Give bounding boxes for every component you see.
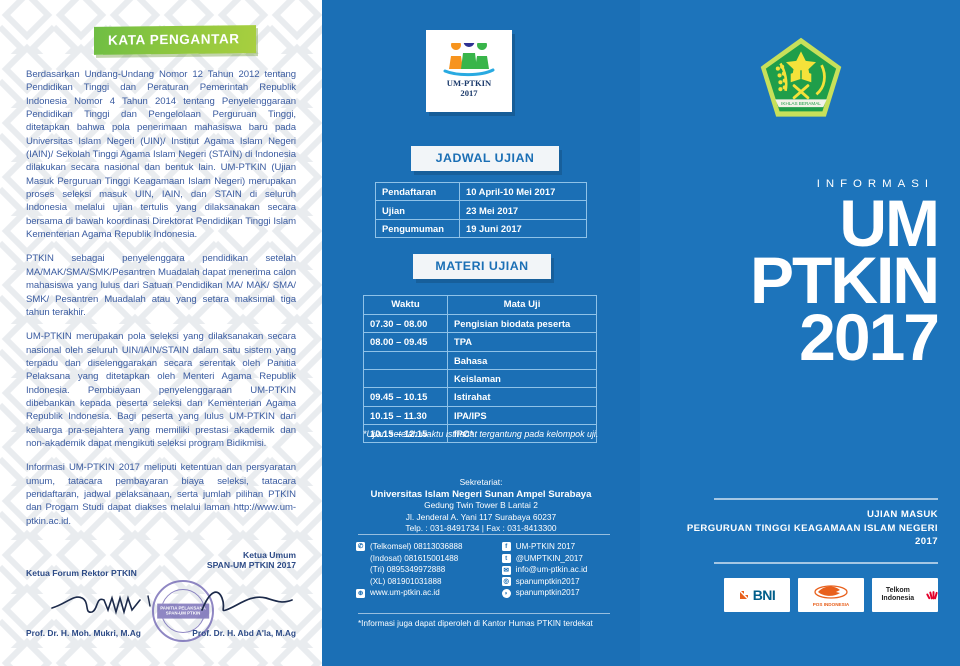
contact-row[interactable]: ✆ (Telkomsel) 08113036888 xyxy=(356,541,490,553)
intro-paragraph-3: UM-PTKIN merupakan pola seleksi yang dil… xyxy=(26,330,296,450)
jadwal-value: 19 Juni 2017 xyxy=(460,219,587,237)
cell-waktu: 09.45 – 10.15 xyxy=(364,388,448,406)
contact-text: www.um-ptkin.ac.id xyxy=(370,587,440,599)
contact-text: (Indosat) 081615001488 xyxy=(356,553,490,565)
table-row: Ujian 23 Mei 2017 xyxy=(376,201,587,219)
contact-text: spanumptkin2017 xyxy=(516,576,580,588)
contact-text: UM-PTKIN 2017 xyxy=(516,541,575,553)
kata-pengantar-header: KATA PENGANTAR xyxy=(94,26,256,54)
table-row: Pengumuman 19 Juni 2017 xyxy=(376,219,587,237)
cell-waktu: 08.00 – 09.45 xyxy=(364,333,448,351)
telkom-indonesia-logo-label: Telkom Indonesia xyxy=(872,587,938,603)
divider-bottom xyxy=(358,613,610,614)
cell-mata-uji: Keislaman xyxy=(448,369,597,387)
pos-bird-icon xyxy=(812,583,850,600)
page-title: UM PTKIN 2017 xyxy=(750,195,938,365)
contacts-column-right: f UM-PTKIN 2017 t @UMPTKIN_2017 ✉ info@u… xyxy=(502,541,618,599)
secretariat-building: Gedung Twin Tower B Lantai 2 xyxy=(336,500,626,512)
cell-waktu: 07.30 – 08.00 xyxy=(364,314,448,332)
cell-waktu xyxy=(364,351,448,369)
signature-right-mark xyxy=(196,582,306,616)
cell-mata-uji: Istirahat xyxy=(448,388,597,406)
table-row: Keislaman xyxy=(364,369,597,387)
divider-top xyxy=(358,534,610,535)
left-panel: KATA PENGANTAR Berdasarkan Undang-Undang… xyxy=(0,0,322,666)
bni-logo-label: BNI xyxy=(739,587,776,603)
contact-row[interactable]: t @UMPTKIN_2017 xyxy=(502,553,618,565)
tagline-line-3: 2017 xyxy=(687,535,938,549)
contacts-block: ✆ (Telkomsel) 08113036888 (Indosat) 0816… xyxy=(356,541,618,599)
signature-left-name: Prof. Dr. H. Moh. Mukri, M.Ag xyxy=(26,628,141,638)
contact-text: (Tri) 0895349972888 xyxy=(356,564,490,576)
signature-block: Ketua Forum Rektor PTKIN Ketua Umum SPAN… xyxy=(26,550,296,642)
pos-indonesia-logo: POS INDONESIA xyxy=(798,578,864,612)
cell-waktu xyxy=(364,369,448,387)
cell-mata-uji: TPA xyxy=(448,333,597,351)
jadwal-label: Pengumuman xyxy=(376,219,460,237)
svg-text:IKHLAS BERAMAL: IKHLAS BERAMAL xyxy=(781,101,821,106)
intro-paragraph-4: Informasi UM-PTKIN 2017 meliputi ketentu… xyxy=(26,461,296,528)
jadwal-value: 23 Mei 2017 xyxy=(460,201,587,219)
pos-indonesia-logo-label: POS INDONESIA xyxy=(812,583,850,607)
signature-right-title-line2: SPAN-UM PTKIN 2017 xyxy=(207,560,296,570)
contact-text: info@um-ptkin.ac.id xyxy=(516,564,588,576)
materi-ujian-table: Waktu Mata Uji 07.30 – 08.00 Pengisian b… xyxy=(363,295,597,443)
contact-row[interactable]: ⊕ www.um-ptkin.ac.id xyxy=(356,587,490,599)
contact-text: spanumptkin2017 xyxy=(516,587,580,599)
um-ptkin-logo-icon xyxy=(443,43,495,77)
contacts-column-left: ✆ (Telkomsel) 08113036888 (Indosat) 0816… xyxy=(356,541,490,599)
kata-pengantar-badge-label: KATA PENGANTAR xyxy=(94,25,256,55)
globe-icon: ⊕ xyxy=(356,589,365,598)
table-row: Pendaftaran 10 April-10 Mei 2017 xyxy=(376,183,587,201)
right-panel: IKHLAS BERAMAL INFORMASI UM PTKIN 2017 U… xyxy=(640,0,960,666)
materi-ujian-ribbon: MATERI UJIAN xyxy=(413,254,551,279)
cell-waktu: 10.15 – 11.30 xyxy=(364,406,448,424)
jadwal-label: Pendaftaran xyxy=(376,183,460,201)
signature-right-name: Prof. Dr. H. Abd A'la, M.Ag xyxy=(192,628,296,638)
um-ptkin-logo-caption: UM-PTKIN 2017 xyxy=(447,79,491,98)
middle-panel: UM-PTKIN 2017 JADWAL UJIAN Pendaftaran 1… xyxy=(322,0,640,666)
contact-text: (Telkomsel) 08113036888 xyxy=(370,541,463,553)
jadwal-ujian-ribbon: JADWAL UJIAN xyxy=(411,146,559,171)
secretariat-label: Sekretariat: xyxy=(336,477,626,489)
column-header-waktu: Waktu xyxy=(364,296,448,315)
contact-row[interactable]: f UM-PTKIN 2017 xyxy=(502,541,618,553)
bni-logo: BNI xyxy=(724,578,790,612)
tagline-line-1: UJIAN MASUK xyxy=(687,508,938,522)
contact-row[interactable]: ✉ info@um-ptkin.ac.id xyxy=(502,564,618,576)
secretariat-address: Jl. Jenderal A. Yani 117 Surabaya 60237 xyxy=(336,512,626,524)
contact-row[interactable]: ◗ spanumptkin2017 xyxy=(502,587,618,599)
contact-text: (XL) 081901031888 xyxy=(356,576,490,588)
signature-left-mark xyxy=(50,586,160,620)
cell-mata-uji: Pengisian biodata peserta xyxy=(448,314,597,332)
table-row: 08.00 – 09.45 TPA xyxy=(364,333,597,351)
title-line-year: 2017 xyxy=(750,309,938,366)
middle-footnote: *Informasi juga dapat diperoleh di Kanto… xyxy=(358,618,608,629)
signature-right-title-line1: Ketua Umum xyxy=(207,550,296,560)
tagline-divider-bottom xyxy=(714,562,938,564)
jadwal-label: Ujian xyxy=(376,201,460,219)
cell-mata-uji: Bahasa xyxy=(448,351,597,369)
brochure-page: KATA PENGANTAR Berdasarkan Undang-Undang… xyxy=(0,0,960,666)
secretariat-block: Sekretariat: Universitas Islam Negeri Su… xyxy=(336,477,626,535)
email-icon: ✉ xyxy=(502,566,511,575)
um-ptkin-logo-card: UM-PTKIN 2017 xyxy=(426,30,512,112)
signature-right-title: Ketua Umum SPAN-UM PTKIN 2017 xyxy=(207,550,296,570)
column-header-mata-uji: Mata Uji xyxy=(448,296,597,315)
cell-mata-uji: IPA/IPS xyxy=(448,406,597,424)
telkom-hand-icon xyxy=(926,588,938,602)
tagline-divider-top xyxy=(714,498,938,500)
jadwal-value: 10 April-10 Mei 2017 xyxy=(460,183,587,201)
phone-icon: ✆ xyxy=(356,542,365,551)
table-row: 09.45 – 10.15 Istirahat xyxy=(364,388,597,406)
table-row: 07.30 – 08.00 Pengisian biodata peserta xyxy=(364,314,597,332)
kemenag-logo-icon: IKHLAS BERAMAL xyxy=(758,36,844,120)
intro-paragraph-1: Berdasarkan Undang-Undang Nomor 12 Tahun… xyxy=(26,68,296,241)
tagline-line-2: PERGURUAN TINGGI KEAGAMAAN ISLAM NEGERI xyxy=(687,522,938,536)
telkom-indonesia-logo: Telkom Indonesia xyxy=(872,578,938,612)
jadwal-ujian-table: Pendaftaran 10 April-10 Mei 2017 Ujian 2… xyxy=(375,182,587,238)
instagram-icon: ◎ xyxy=(502,577,511,586)
materi-ujian-note: *Ujian setelah waktu istirahat tergantun… xyxy=(363,428,613,441)
signature-left-title: Ketua Forum Rektor PTKIN xyxy=(26,568,137,578)
bni-mark-icon xyxy=(739,589,751,601)
facebook-icon: f xyxy=(502,542,511,551)
table-row: 10.15 – 11.30 IPA/IPS xyxy=(364,406,597,424)
messenger-icon: ◗ xyxy=(502,589,511,598)
contact-text: @UMPTKIN_2017 xyxy=(516,553,583,565)
sponsors-block: BNI POS INDONESIA Telkom Indonesia xyxy=(724,578,938,612)
table-header-row: Waktu Mata Uji xyxy=(364,296,597,315)
table-row: Bahasa xyxy=(364,351,597,369)
tagline-block: UJIAN MASUK PERGURUAN TINGGI KEAGAMAAN I… xyxy=(687,508,938,549)
twitter-icon: t xyxy=(502,554,511,563)
contact-row[interactable]: ◎ spanumptkin2017 xyxy=(502,576,618,588)
intro-paragraph-2: PTKIN sebagai penyelenggara pendidikan s… xyxy=(26,252,296,319)
secretariat-institution: Universitas Islam Negeri Sunan Ampel Sur… xyxy=(336,489,626,501)
